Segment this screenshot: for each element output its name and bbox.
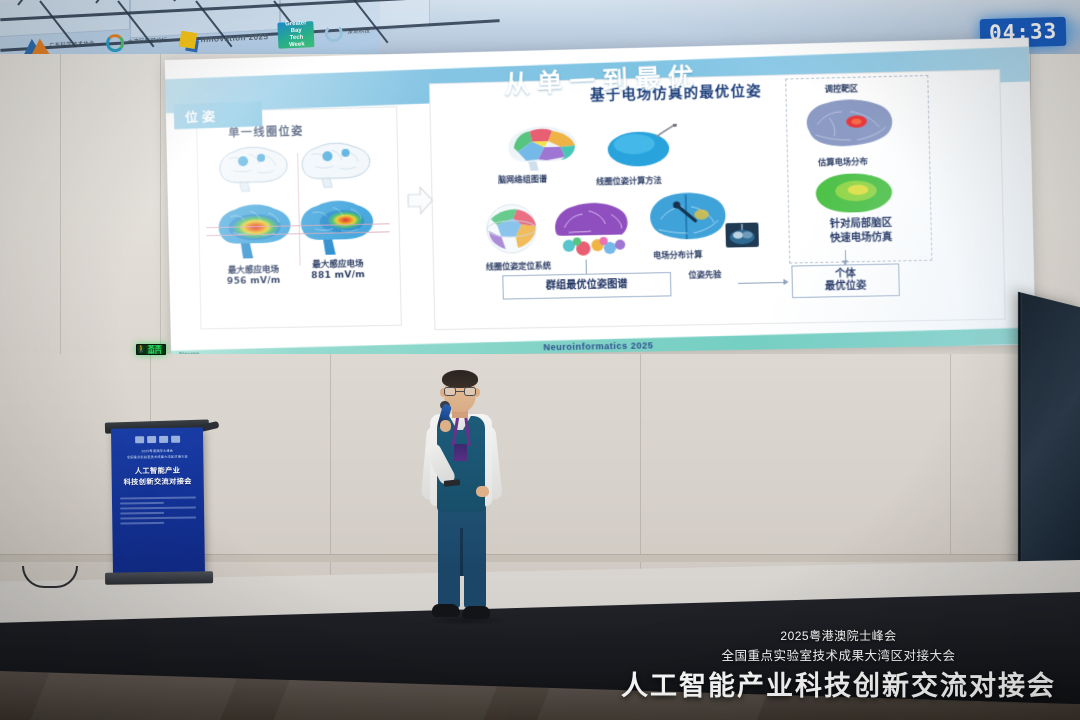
brain-heatmap-right xyxy=(294,197,380,257)
exit-sign-left: 🚶 安全出口 xyxy=(136,344,166,355)
individual-pose-line2: 最优位姿 xyxy=(825,280,867,294)
podium-logo xyxy=(159,436,168,443)
atlas-label: 脑网络组图谱 xyxy=(498,173,547,185)
coil-localization-label: 线圈位姿定位系统 xyxy=(486,260,551,272)
conference-photo-scene: 广东科学技术协会 大湾区科学论坛 Innovation 2025 Greater… xyxy=(0,0,1080,720)
projection-screen: 从单一到最优 位姿 单一线圈位姿 xyxy=(165,38,1036,360)
swoosh-icon xyxy=(324,24,345,43)
caption-line-2: 全国重点实验室技术成果大湾区对接大会 xyxy=(621,646,1056,667)
connector-arrowhead xyxy=(783,279,788,285)
slide-footer-text: Neuroinformatics 2025 xyxy=(543,340,653,352)
podium-banner: 2025粤港澳院士峰会 全国重点实验室技术成果大湾区对接大会 人工智能产业 科技… xyxy=(111,427,205,576)
individual-pose-box: 个体 最优位姿 xyxy=(791,263,900,298)
coil-method-icon xyxy=(603,124,680,172)
sponsor-label: 大湾区科学论坛 xyxy=(128,38,168,46)
podium-title-2: 科技创新交流对接会 xyxy=(112,475,204,488)
speaker-right-shoe xyxy=(462,606,490,619)
speaker-left-leg xyxy=(438,564,460,608)
fast-sim-line2: 快速电场仿真 xyxy=(795,230,928,246)
exit-sign-left-text: 安全出口 xyxy=(148,344,165,355)
kite-icon xyxy=(177,30,198,49)
coil-method-label: 线圈位姿计算方法 xyxy=(596,175,662,188)
tech-week-line3: Week xyxy=(289,41,305,49)
exit-running-man-icon: 🚶 xyxy=(137,346,146,353)
estimate-efield-label: 估算电场分布 xyxy=(818,156,868,168)
brain-target-icon xyxy=(798,96,899,155)
brain-parcellation-icon xyxy=(550,200,633,260)
connector-arrowhead xyxy=(842,260,848,265)
flow-arrow-icon xyxy=(407,184,430,215)
slide-section-tab: 位姿 xyxy=(174,101,263,129)
kite-logo: Innovation 2025 xyxy=(177,27,269,49)
speaker-person xyxy=(404,368,524,624)
efield-distribution-icon xyxy=(641,190,731,255)
podium-logo-row xyxy=(111,435,203,443)
efield-distribution-label: 电场分布计算 xyxy=(653,249,703,261)
sponsor-label: 广东科学技术协会 xyxy=(49,41,95,49)
brain-outline-right xyxy=(295,139,375,189)
sponsor-label: 深圳科技 xyxy=(347,29,370,36)
left-measure-2: 最大感应电场 881 mV/m xyxy=(291,258,384,284)
left-measure-2-value: 881 mV/m xyxy=(292,269,385,283)
sponsor-label: Innovation 2025 xyxy=(200,32,268,44)
podium-subtitle-2: 全国重点实验室技术成果大湾区对接大会 xyxy=(111,454,203,460)
tech-week-line1: Greater Bay xyxy=(279,20,314,35)
speaker-left-shoe xyxy=(432,604,460,617)
podium: 2025粤港澳院士峰会 全国重点实验室技术成果大湾区对接大会 人工智能产业 科技… xyxy=(111,427,205,576)
podium-base xyxy=(105,571,213,585)
coil-localization-icon xyxy=(478,202,553,260)
brain-outline-left xyxy=(213,143,292,193)
left-measure-1: 最大感应电场 956 mV/m xyxy=(207,263,300,289)
guangdong-association-logo: 广东科学技术协会 xyxy=(26,35,95,56)
glasses-icon xyxy=(444,387,476,396)
fast-sim-caption: 针对局部脑区 快速电场仿真 xyxy=(794,216,927,246)
speaker-leg-gap xyxy=(460,528,463,576)
speaker-badge xyxy=(454,444,467,461)
brain-heatmap-left xyxy=(212,201,298,261)
speaker-left-hand xyxy=(440,420,451,432)
podium-text-block xyxy=(112,496,204,524)
greater-bay-logo: 大湾区科学论坛 xyxy=(104,32,168,53)
local-efield-blob-icon xyxy=(808,170,898,217)
individual-pose-line1: 个体 xyxy=(835,268,856,281)
tech-week-badge: Greater Bay Tech Week xyxy=(278,21,315,49)
group-atlas-box: 群组最优位姿图谱 xyxy=(502,272,671,300)
left-measure-1-value: 956 mV/m xyxy=(207,275,300,289)
event-caption: 2025粤港澳院士峰会 全国重点实验室技术成果大湾区对接大会 人工智能产业科技创… xyxy=(621,626,1056,704)
podium-logo xyxy=(171,436,180,443)
speaker-hair xyxy=(442,370,478,388)
podium-logo xyxy=(147,436,156,443)
pose-prior-label: 位姿先验 xyxy=(688,269,721,281)
caption-line-1: 2025粤港澳院士峰会 xyxy=(621,626,1056,646)
caption-line-3: 人工智能产业科技创新交流对接会 xyxy=(621,668,1056,704)
ring-icon xyxy=(104,34,125,53)
speaker-right-leg xyxy=(464,564,486,608)
target-region-label: 调控靶区 xyxy=(825,83,858,95)
coil-device-thumbnail xyxy=(724,221,760,248)
speaker-right-hand xyxy=(476,486,489,497)
shenzhen-logo: 深圳科技 xyxy=(324,23,371,43)
podium-logo xyxy=(135,436,144,443)
brain-atlas-icon xyxy=(501,122,582,172)
